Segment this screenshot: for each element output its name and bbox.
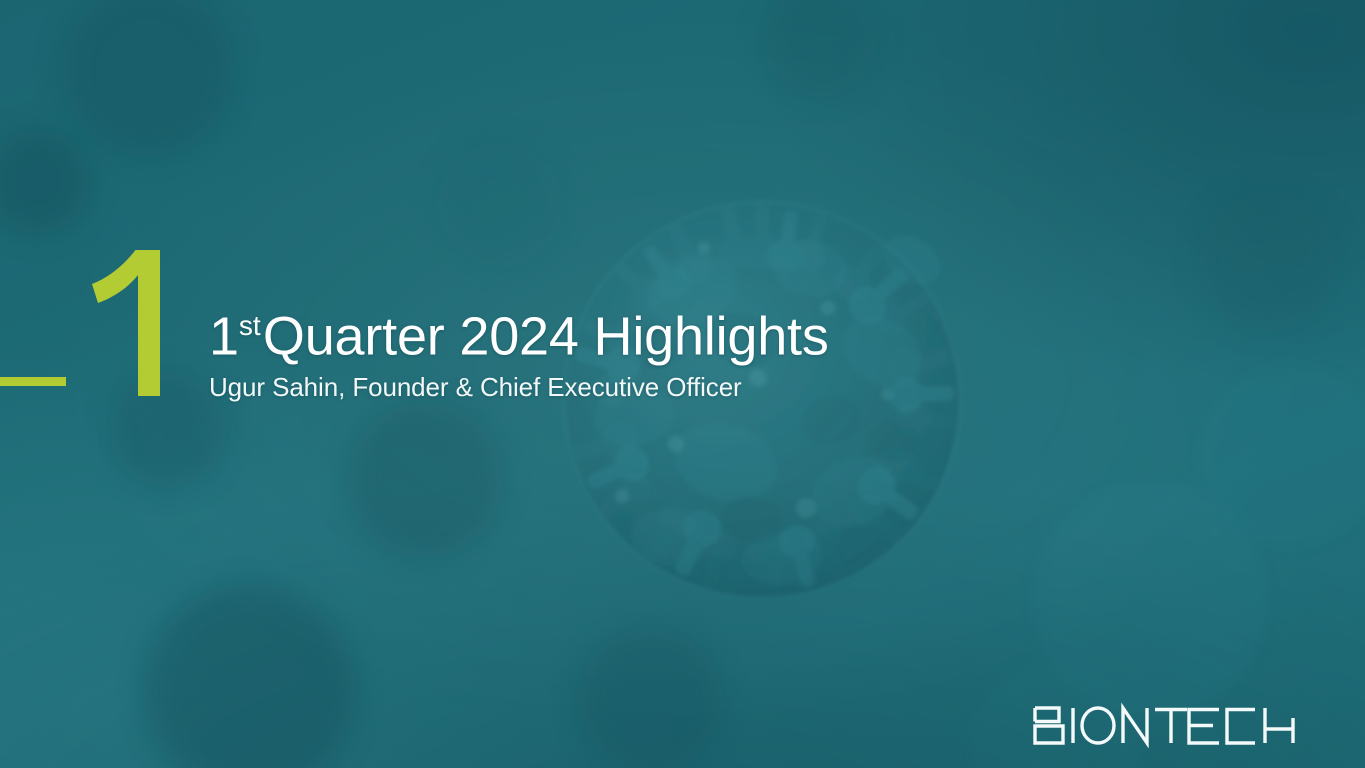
title-block: 1stQuarter 2024 Highlights Ugur Sahin, F… [209,296,1109,403]
page-title: 1stQuarter 2024 Highlights [209,296,1109,367]
page-subtitle: Ugur Sahin, Founder & Chief Executive Of… [209,372,1109,403]
biontech-logo [1033,700,1297,748]
title-ordinal-suffix: st [239,310,261,341]
presentation-slide: 1stQuarter 2024 Highlights Ugur Sahin, F… [0,0,1365,768]
title-main-text: Quarter 2024 Highlights [263,307,829,367]
numeral-one-shape [78,248,174,398]
biontech-wordmark-icon [1033,700,1297,748]
title-number: 1 [209,307,239,367]
slide-number-numeral [78,248,174,398]
accent-dash [0,377,66,386]
